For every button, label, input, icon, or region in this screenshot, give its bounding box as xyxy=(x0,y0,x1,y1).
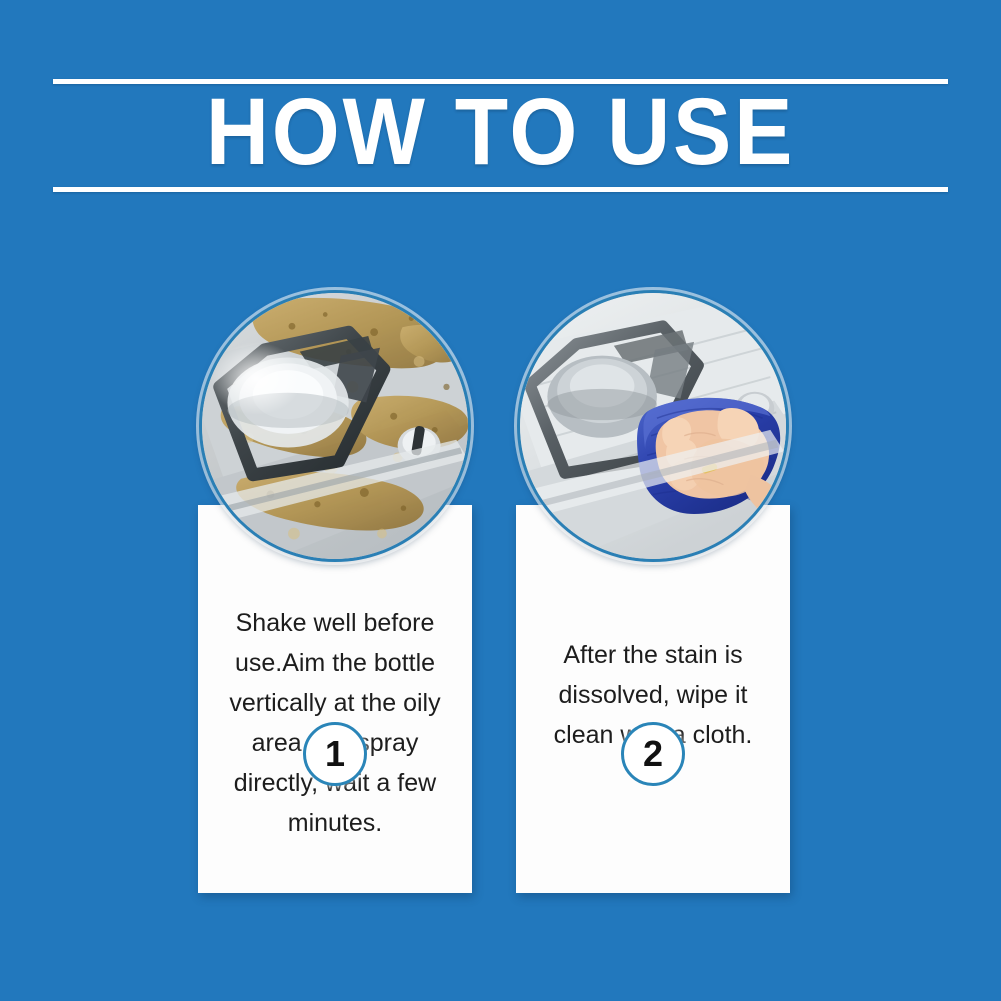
how-to-use-infographic: HOW TO USE xyxy=(0,0,1001,1001)
step-2-number: 2 xyxy=(643,736,663,772)
step-1-badge: 1 xyxy=(303,722,367,786)
clean-stove-wiping-illustration xyxy=(520,293,786,559)
step-1-photo xyxy=(199,290,471,562)
step-2-badge: 2 xyxy=(621,722,685,786)
step-2-photo xyxy=(517,290,789,562)
step-1-number: 1 xyxy=(325,736,345,772)
dirty-stove-illustration xyxy=(202,293,468,559)
step-card-1: 1 Shake well before use.Aim the bottle v… xyxy=(198,505,472,893)
step-card-2: 2 After the stain is dissolved, wipe it … xyxy=(516,505,790,893)
steps-container: 1 Shake well before use.Aim the bottle v… xyxy=(0,0,1001,1001)
